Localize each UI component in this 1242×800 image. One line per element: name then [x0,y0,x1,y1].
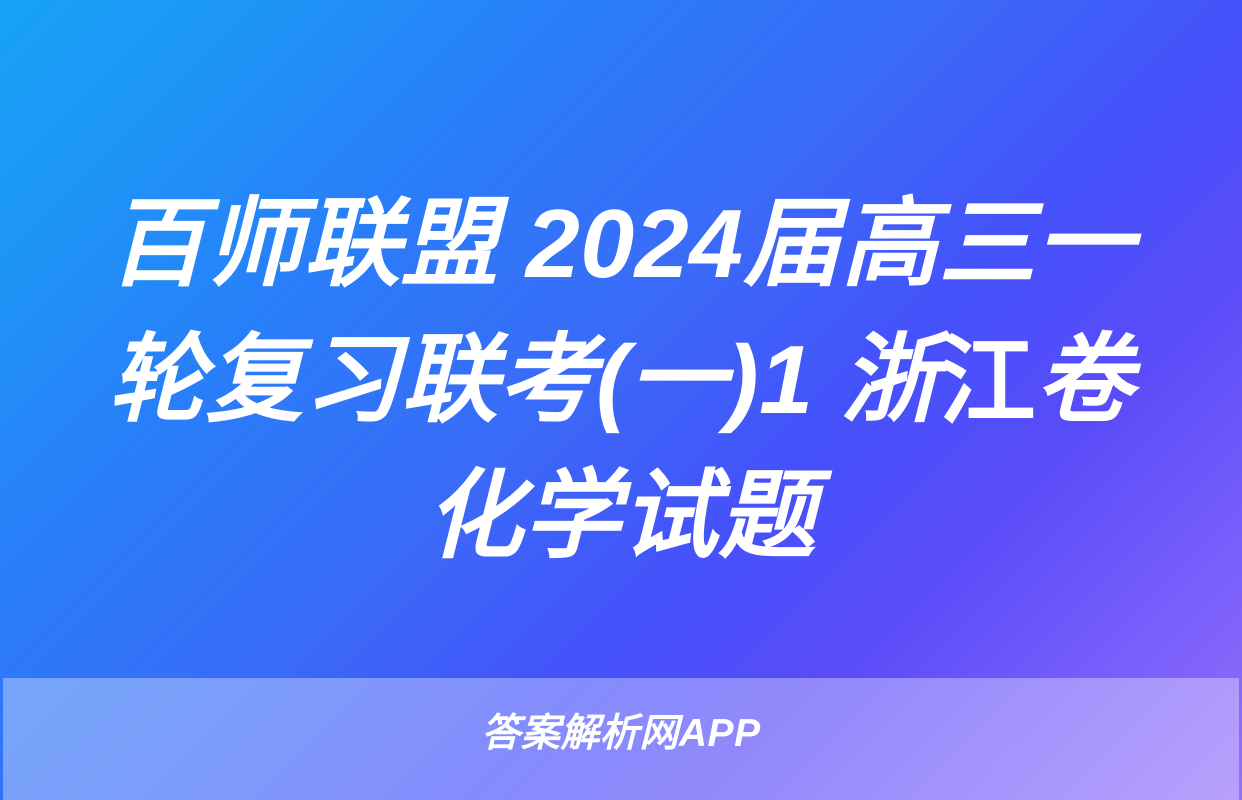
watermark-text: 答案解析网APP [3,710,1239,758]
title-line-2: 轮复习联考(一)1 浙江卷 [58,312,1184,448]
title-line-2-before: 轮复习联考(一)1 浙 [109,325,939,434]
title-line-2-after: 卷 [1036,325,1134,434]
exam-cover-card: 百师联盟 2024届高三一 轮复习联考(一)1 浙江卷 化学试题 答案解析网AP… [0,0,1242,800]
title-line-2-upright-glyph: 江 [939,314,1037,450]
title-line-1: 百师联盟 2024届高三一 [58,176,1184,312]
page-title: 百师联盟 2024届高三一 轮复习联考(一)1 浙江卷 化学试题 [0,176,1242,584]
watermark-band: 答案解析网APP [3,678,1239,800]
title-line-3: 化学试题 [58,448,1184,584]
